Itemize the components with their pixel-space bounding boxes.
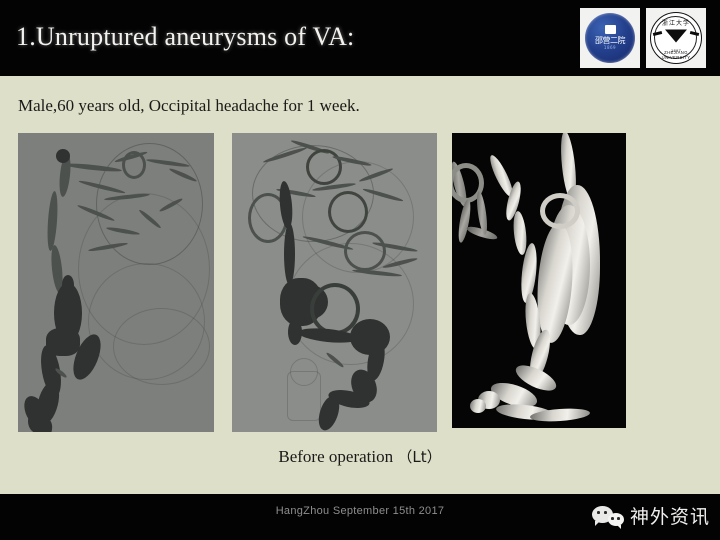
slide-header: 1.Unruptured aneurysms of VA: 邵营二院 1869 … (0, 0, 720, 76)
hospital-logo: 邵营二院 1869 (580, 8, 640, 68)
angiogram-3d-reconstruction (452, 133, 626, 428)
angiogram-image-2 (232, 133, 437, 432)
caption-main-text: Before operation (278, 447, 393, 466)
university-logo: 浙江大学 1897 ZHEJIANG UNIVERSITY (646, 8, 706, 68)
wechat-account-name: 神外资讯 (630, 505, 710, 529)
caption-side-text: （Lt） (397, 448, 441, 466)
wechat-watermark: 神外资讯 (592, 500, 710, 534)
slide-body: Male,60 years old, Occipital headache fo… (0, 76, 720, 494)
wechat-bubble-small-icon (608, 513, 624, 526)
image-caption: Before operation （Lt） (0, 446, 720, 468)
wechat-icon (592, 505, 624, 529)
seal-chinese-name: 浙江大学 (651, 18, 701, 27)
seal-bird-icon (665, 30, 687, 43)
slide-footer: HangZhou September 15th 2017 神外资讯 (0, 494, 720, 540)
seal-english-name: ZHEJIANG UNIVERSITY (652, 50, 700, 60)
presentation-slide: 1.Unruptured aneurysms of VA: 邵营二院 1869 … (0, 0, 720, 540)
angiogram-image-1 (18, 133, 214, 432)
slide-title: 1.Unruptured aneurysms of VA: (16, 20, 354, 54)
hospital-logo-name: 邵营二院 (595, 36, 625, 45)
university-seal: 浙江大学 1897 ZHEJIANG UNIVERSITY (650, 12, 702, 64)
hospital-logo-year: 1869 (604, 45, 616, 51)
hospital-logo-disc: 邵营二院 1869 (585, 13, 635, 63)
hospital-logo-mark (605, 25, 616, 34)
patient-info-text: Male,60 years old, Occipital headache fo… (18, 95, 360, 117)
